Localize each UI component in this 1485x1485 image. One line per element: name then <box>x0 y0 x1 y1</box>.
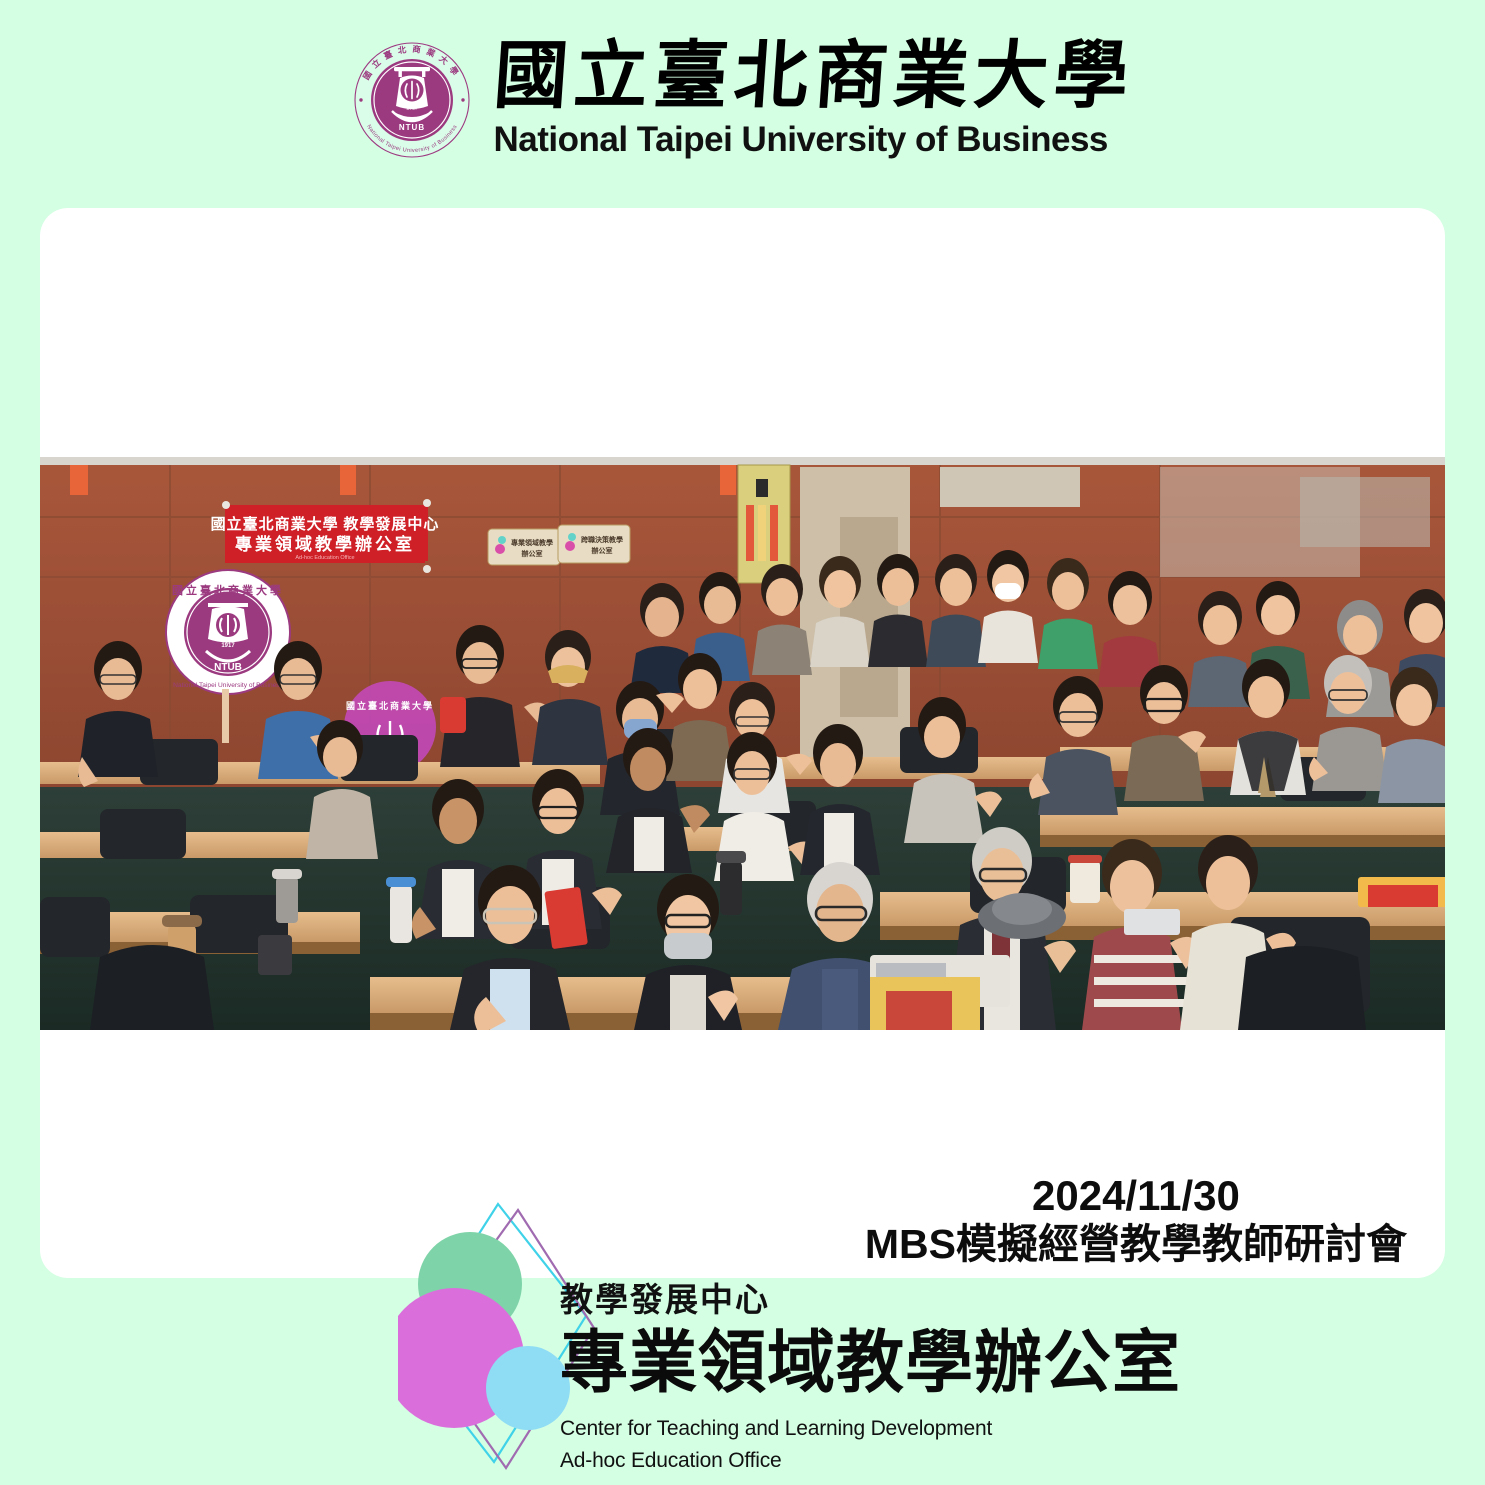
svg-text:辦公室: 辦公室 <box>592 546 613 555</box>
footer-brand: 教學發展中心 專業領域教學辦公室 Center for Teaching and… <box>398 1196 1158 1476</box>
seal-abbr: NTUB <box>398 123 424 132</box>
page-header: 1917 NTUB 國立臺北商業大學 National Taipei Unive… <box>0 0 1485 200</box>
svg-text:國立臺北商業大學 教學發展中心: 國立臺北商業大學 教學發展中心 <box>211 515 440 533</box>
svg-text:國立臺北商業大學: 國立臺北商業大學 <box>346 700 434 711</box>
svg-text:Ad-hoc Education Office: Ad-hoc Education Office <box>295 555 354 561</box>
center-name-en: Center for Teaching and Learning Develop… <box>560 1413 1181 1445</box>
svg-text:專業領域教學: 專業領域教學 <box>511 538 553 547</box>
brand-text-block: 教學發展中心 專業領域教學辦公室 Center for Teaching and… <box>560 1282 1181 1476</box>
svg-text:1917: 1917 <box>221 643 235 649</box>
svg-text:國立臺北商業大學: 國立臺北商業大學 <box>172 583 284 597</box>
office-name-en: Ad-hoc Education Office <box>560 1445 1181 1477</box>
center-name-cn: 教學發展中心 <box>560 1282 1181 1318</box>
svg-text:NTUB: NTUB <box>214 662 242 673</box>
university-name-cn: 國立臺北商業大學 <box>491 40 1136 114</box>
ntub-seal-icon: 1917 NTUB 國立臺北商業大學 National Taipei Unive… <box>352 40 472 160</box>
office-name-cn: 專業領域教學辦公室 <box>560 1324 1181 1403</box>
ntub-wordmark: 國立臺北商業大學 National Taipei University of B… <box>494 40 1134 160</box>
seal-year: 1917 <box>406 106 418 112</box>
blue-circle <box>486 1346 570 1430</box>
svg-text:辦公室: 辦公室 <box>522 549 543 558</box>
event-group-photo: 國立臺北商業大學 教學發展中心 專業領域教學辦公室 Ad-hoc Educati… <box>40 457 1445 1030</box>
svg-text:跨職決策教學: 跨職決策教學 <box>581 535 623 544</box>
svg-text:專業領域教學辦公室: 專業領域教學辦公室 <box>235 534 415 554</box>
svg-text:National Taipei University of: National Taipei University of Business <box>173 682 284 689</box>
university-name-en: National Taipei University of Business <box>494 120 1108 160</box>
